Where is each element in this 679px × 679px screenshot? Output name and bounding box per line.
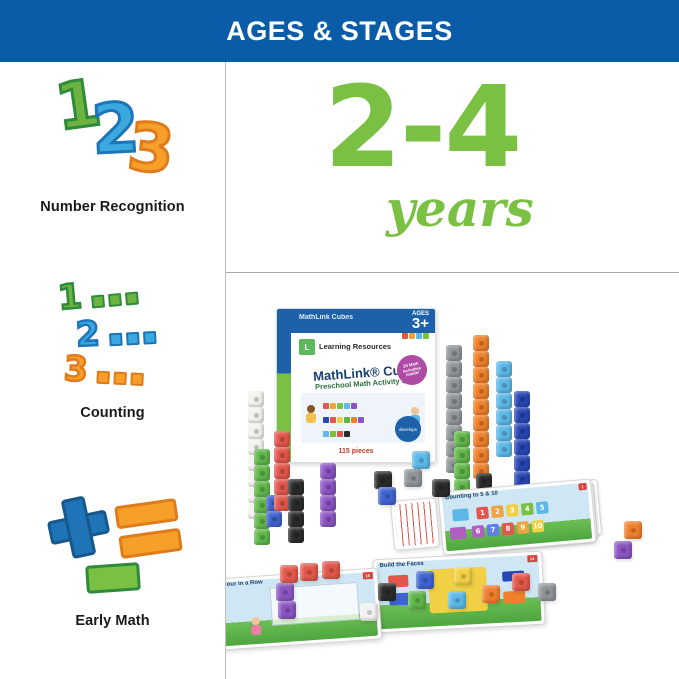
four-in-a-row-badge: 16	[362, 572, 373, 580]
train-number-9: 9	[516, 521, 529, 534]
cube	[446, 361, 462, 377]
cube	[320, 511, 336, 527]
tower-darkblue	[514, 391, 530, 487]
cube-black-bottom	[378, 583, 396, 601]
cube	[320, 479, 336, 495]
train-number-2: 2	[491, 505, 504, 518]
cube	[514, 455, 530, 471]
feature-label-early-math: Early Math	[0, 612, 225, 631]
cube	[473, 399, 489, 415]
cube-gray	[404, 469, 422, 487]
cube	[496, 377, 512, 393]
cube	[274, 431, 290, 447]
train-number-4: 4	[521, 503, 534, 516]
cube-purple-card-2	[278, 601, 296, 619]
tower-lightblue	[496, 361, 512, 457]
brand-cube-icon: L	[299, 339, 315, 355]
features-column: 1 2 3 Number Recognition 1 2	[0, 62, 225, 679]
brand-lockup: L Learning Resources	[299, 339, 391, 355]
cube-red-card	[280, 565, 298, 583]
cube	[496, 441, 512, 457]
feature-label-number-recognition: Number Recognition	[0, 198, 225, 217]
cube	[248, 407, 264, 423]
cube	[496, 393, 512, 409]
cube	[288, 527, 304, 543]
develops-logo: develops	[395, 416, 421, 442]
cube	[254, 465, 270, 481]
cube	[288, 479, 304, 495]
train-number-1: 1	[476, 506, 489, 519]
cube	[248, 391, 264, 407]
cube	[473, 415, 489, 431]
counting-numeral-three: 3	[63, 352, 88, 387]
counting-card-train-engine-2	[450, 527, 467, 540]
feature-number-recognition: 1 2 3 Number Recognition	[0, 68, 225, 217]
cube-red-card-2	[300, 563, 318, 581]
build-the-faces-badge: 14	[527, 555, 538, 563]
cube-orange-right	[624, 521, 642, 539]
cube	[288, 495, 304, 511]
cube	[266, 511, 282, 527]
product-photo: MathLink Cubes AGES 3+ L Learning Resour…	[226, 273, 679, 679]
cube-black-2	[432, 479, 450, 497]
product-box: MathLink Cubes AGES 3+ L Learning Resour…	[276, 308, 436, 463]
cube	[320, 463, 336, 479]
age-range: 2-4	[324, 72, 520, 184]
math-operators-icon	[0, 482, 225, 612]
feature-label-counting: Counting	[0, 404, 225, 423]
counting-numeral-two: 2	[75, 317, 100, 352]
counting-card-badge: 1	[578, 483, 587, 491]
train-number-7: 7	[487, 524, 500, 537]
cube-green-bottom	[408, 591, 426, 609]
cube	[446, 409, 462, 425]
brand-name: Learning Resources	[319, 343, 391, 352]
cube-red-bottom	[512, 573, 530, 591]
train-number-8: 8	[501, 522, 514, 535]
counting-dots-two	[105, 331, 157, 347]
train-number-10: 10	[531, 520, 544, 533]
box-spine-text: MathLink Cubes	[299, 314, 353, 321]
cube	[288, 511, 304, 527]
cube-purple-right	[614, 541, 632, 559]
cube	[473, 335, 489, 351]
cube	[473, 351, 489, 367]
counting-card-train-engine-1	[452, 508, 469, 521]
counting-sequence-icon: 1 2 3	[0, 274, 225, 404]
box-kid-girl	[305, 405, 317, 423]
cube-blue-bottom	[416, 571, 434, 589]
cube	[248, 423, 264, 439]
feature-early-math: Early Math	[0, 482, 225, 631]
cube-yellow-bottom	[454, 567, 472, 585]
banner-title: AGES & STAGES	[226, 16, 453, 47]
counting-numeral-one: 1	[57, 279, 84, 315]
cube-purple-card	[276, 583, 294, 601]
cube-blue	[378, 487, 396, 505]
cube	[446, 345, 462, 361]
box-top-band: MathLink Cubes AGES 3+	[291, 309, 435, 333]
card-edge-fan	[390, 497, 440, 551]
plus-icon	[43, 493, 107, 557]
counting-row-two: 2	[75, 314, 156, 352]
cube-lightblue-box	[412, 451, 430, 469]
cube-orange-bottom	[482, 585, 500, 603]
cube	[473, 447, 489, 463]
cube	[473, 431, 489, 447]
cube	[274, 463, 290, 479]
cube	[496, 425, 512, 441]
tower-orange	[473, 335, 489, 479]
counting-row-three: 3	[63, 352, 144, 390]
cube-red-card-3	[322, 561, 340, 579]
counting-dots-one	[87, 292, 139, 309]
counting-row-one: 1	[57, 275, 139, 316]
train-number-6: 6	[472, 525, 485, 538]
cube	[473, 367, 489, 383]
cube	[496, 361, 512, 377]
cube-lightblue-bottom	[448, 591, 466, 609]
cube	[514, 423, 530, 439]
cube	[446, 393, 462, 409]
tower-black-left	[288, 479, 304, 543]
equals-icon	[114, 498, 184, 566]
stem-chips	[402, 333, 429, 339]
cube	[454, 463, 470, 479]
four-in-a-row-kid	[249, 617, 262, 636]
digit-three: 3	[125, 114, 178, 184]
train-number-5: 5	[536, 501, 549, 514]
cube	[454, 431, 470, 447]
ages-value: 3+	[402, 316, 429, 332]
counting-card: Counting to 5 & 10 1 12345 678910	[438, 478, 597, 555]
feature-counting: 1 2 3 Counting	[0, 274, 225, 423]
age-unit: years	[386, 184, 534, 234]
ages-and-stages-infographic: AGES & STAGES 1 2 3 Number Recognition 1	[0, 0, 679, 679]
cube	[473, 383, 489, 399]
cube-gray-bottom	[538, 583, 556, 601]
minus-icon	[85, 562, 141, 594]
counting-dots-three	[92, 370, 144, 386]
tower-purple-left	[320, 463, 336, 527]
cube-white-bottom	[360, 603, 378, 621]
cube	[514, 407, 530, 423]
age-panel: 2-4 years	[226, 62, 679, 272]
cube	[454, 447, 470, 463]
header-banner: AGES & STAGES	[0, 0, 679, 62]
cube	[254, 529, 270, 545]
cube	[320, 495, 336, 511]
cube	[496, 409, 512, 425]
train-number-3: 3	[506, 504, 519, 517]
cube	[274, 447, 290, 463]
cube	[254, 449, 270, 465]
cube	[514, 439, 530, 455]
cube	[514, 391, 530, 407]
numbers-123-icon: 1 2 3	[0, 68, 225, 198]
ages-badge: AGES 3+	[402, 311, 429, 339]
cube	[446, 377, 462, 393]
